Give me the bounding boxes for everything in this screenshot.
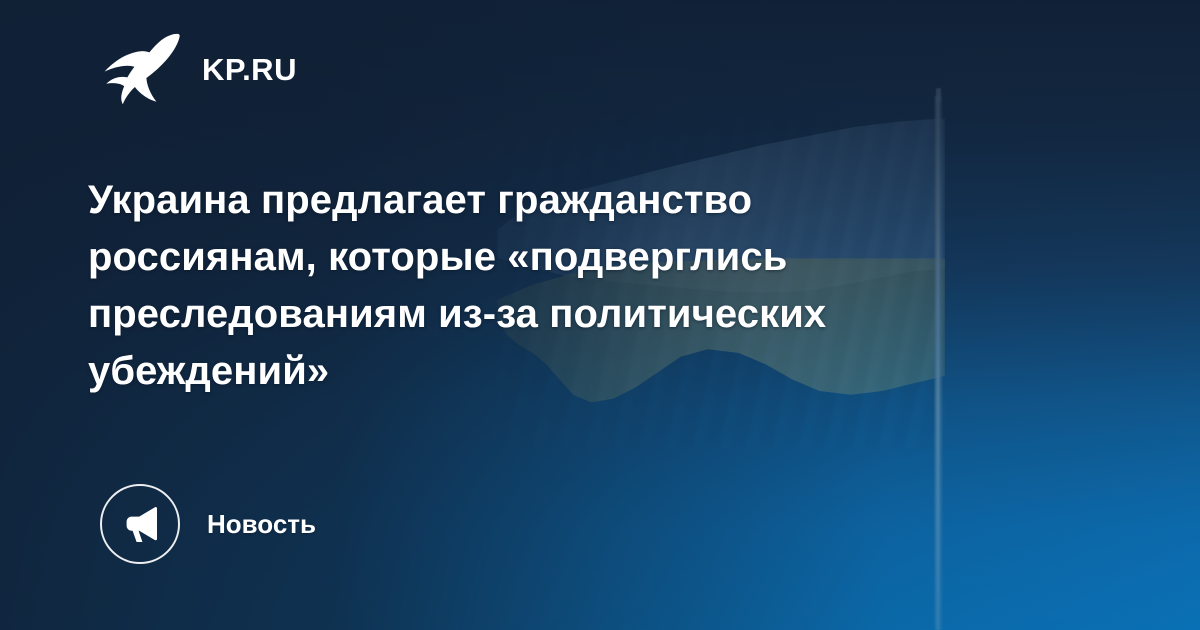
brand-name: KP.RU xyxy=(202,54,297,85)
category-badge[interactable]: Новость xyxy=(100,484,316,564)
headline: Украина предлагает гражданство россиянам… xyxy=(88,172,1048,400)
headline-line-2: россиянам, которые «подверглись xyxy=(88,229,1048,286)
headline-line-1: Украина предлагает гражданство xyxy=(88,172,1048,229)
swallow-bird-icon xyxy=(104,32,180,106)
share-card: KP.RU Украина предлагает гражданство рос… xyxy=(0,0,1200,630)
badge-icon-circle xyxy=(100,484,180,564)
headline-line-3: преследованиям из‑за политических xyxy=(88,286,1048,343)
card-content: KP.RU Украина предлагает гражданство рос… xyxy=(0,0,1200,630)
brand-logo[interactable]: KP.RU xyxy=(104,32,297,106)
megaphone-icon xyxy=(119,503,161,545)
badge-label: Новость xyxy=(207,511,316,537)
headline-line-4: убеждений» xyxy=(88,343,1048,400)
